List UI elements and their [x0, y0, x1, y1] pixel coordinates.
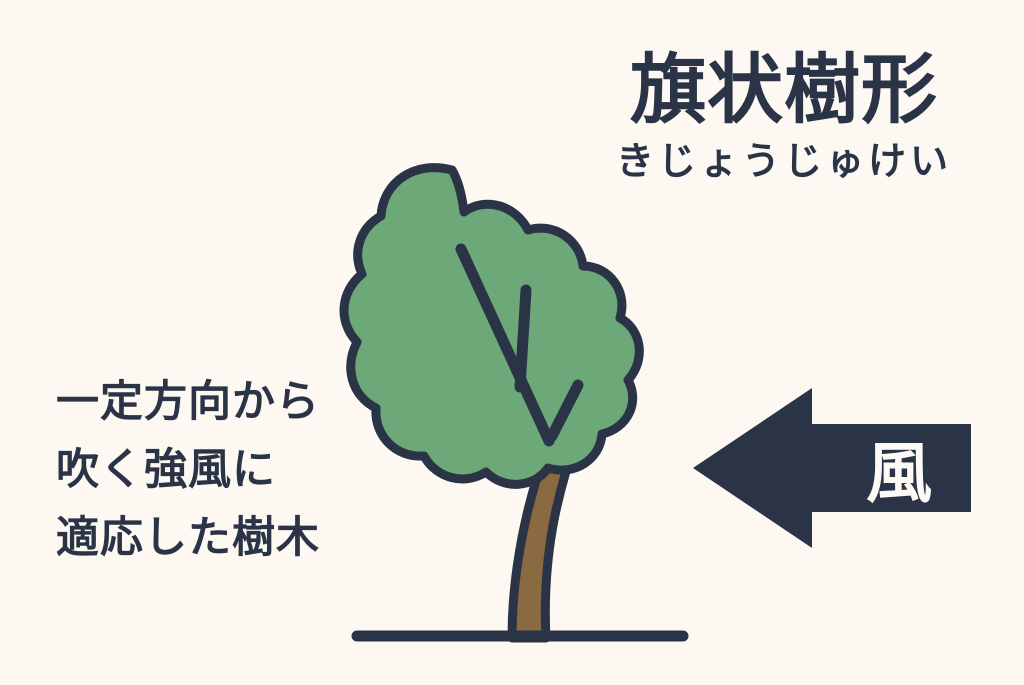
description-block: 一定方向から 吹く強風に 適応した樹木: [56, 368, 386, 572]
branch-upper-right: [520, 290, 526, 387]
page-title: 旗状樹形: [604, 52, 964, 128]
title-furigana: きじょうじゅけい: [604, 142, 964, 180]
description-line-1: 一定方向から: [56, 368, 386, 436]
illustration-canvas: 風 旗状樹形 きじょうじゅけい 一定方向から 吹く強風に 適応した樹木: [0, 0, 1024, 685]
description-line-2: 吹く強風に: [56, 436, 386, 504]
description-line-3: 適応した樹木: [56, 504, 386, 572]
title-block: 旗状樹形 きじょうじゅけい: [604, 52, 964, 180]
wind-label: 風: [862, 437, 936, 511]
